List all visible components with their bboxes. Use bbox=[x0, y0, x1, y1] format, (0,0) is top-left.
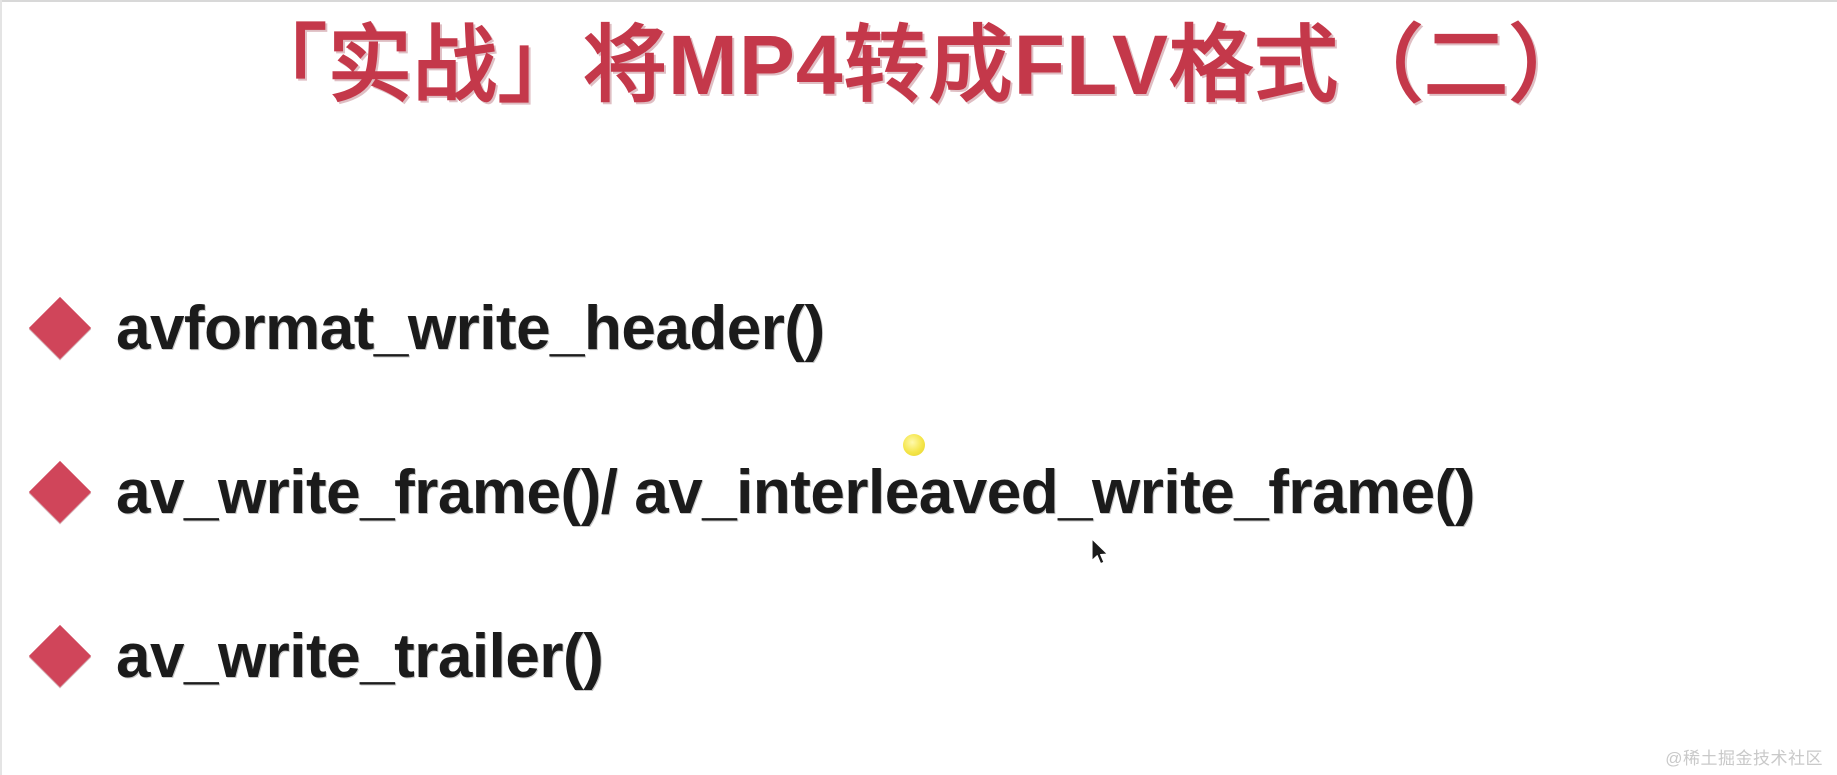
list-item: avformat_write_header() bbox=[34, 246, 1824, 410]
page-title: 「实战」将MP4转成FLV格式（二） bbox=[0, 18, 1837, 112]
diamond-bullet-icon bbox=[29, 461, 91, 523]
bullet-item-label: av_write_trailer() bbox=[116, 621, 1824, 692]
diamond-bullet-icon bbox=[29, 625, 91, 687]
watermark: @稀土掘金技术社区 bbox=[1665, 744, 1823, 769]
top-divider bbox=[0, 0, 1837, 2]
presentation-slide: 「实战」将MP4转成FLV格式（二） avformat_write_header… bbox=[0, 0, 1837, 775]
bullet-item-label: av_write_frame()/ av_interleaved_write_f… bbox=[116, 457, 1824, 528]
bullet-list: avformat_write_header() av_write_frame()… bbox=[34, 246, 1824, 738]
diamond-bullet-icon bbox=[29, 297, 91, 359]
mouse-cursor-icon bbox=[1091, 538, 1111, 568]
list-item: av_write_frame()/ av_interleaved_write_f… bbox=[34, 410, 1824, 574]
laser-pointer-dot-icon bbox=[903, 434, 925, 456]
bullet-item-label: avformat_write_header() bbox=[116, 293, 1824, 364]
list-item: av_write_trailer() bbox=[34, 574, 1824, 738]
left-divider bbox=[0, 0, 2, 775]
